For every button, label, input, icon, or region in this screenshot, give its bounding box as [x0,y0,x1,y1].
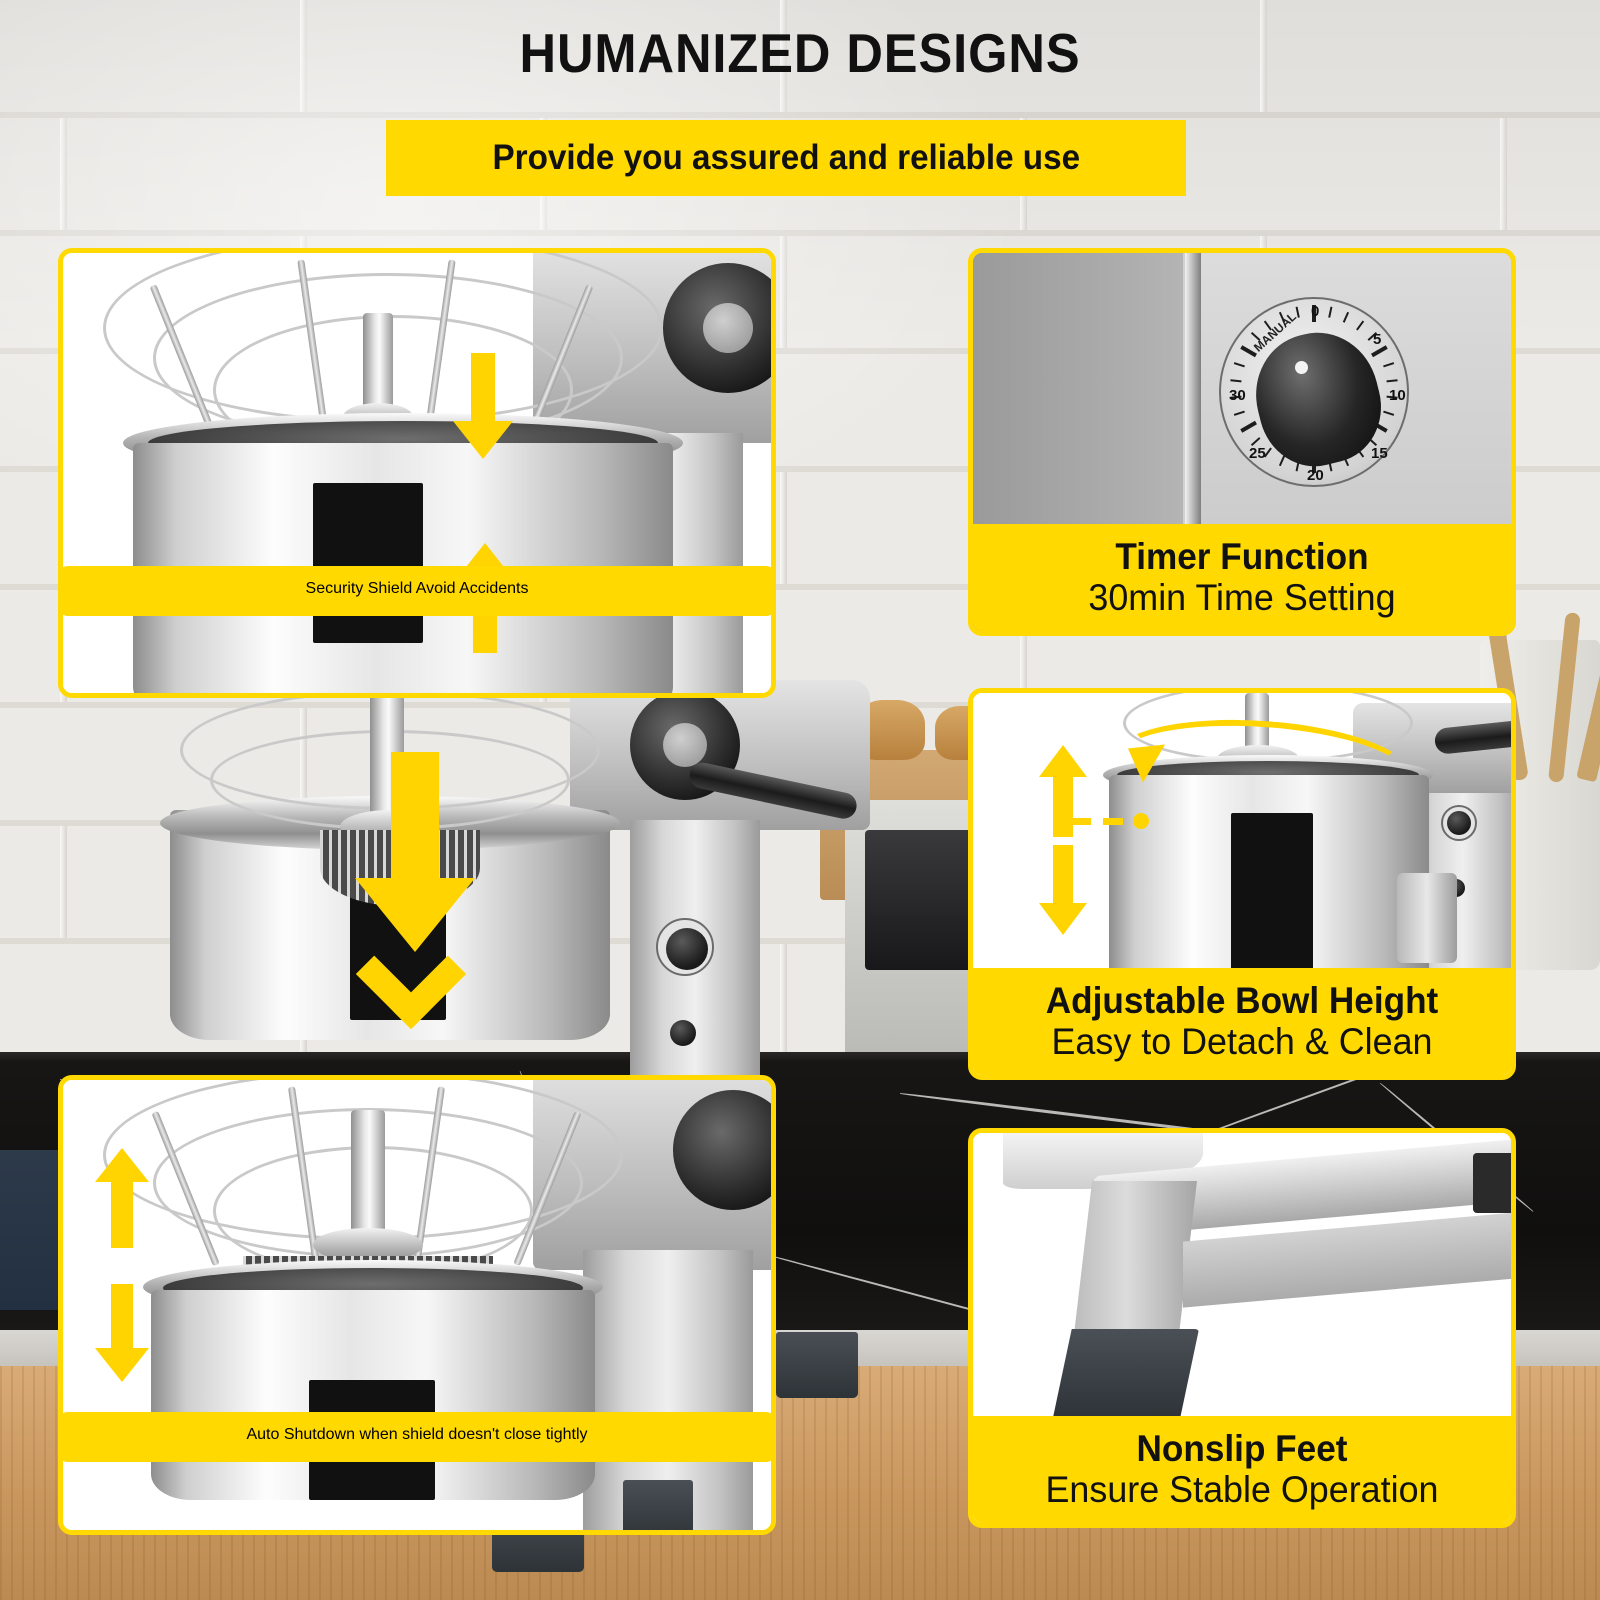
caption-adjustable-bowl-height: Adjustable Bowl Height Easy to Detach & … [968,968,1516,1080]
timer-knob-indicator [1295,361,1308,374]
caption-line1: Auto Shutdown [246,1426,355,1443]
timer-tick-15: 15 [1371,445,1388,462]
timer-tick-30: 30 [1229,387,1246,404]
caption-line1: Nonslip Feet [991,1428,1493,1469]
caption-security-shield: Security Shield Avoid Accidents [58,566,776,616]
shield-open-down-arrow [95,1284,149,1384]
panel-security-shield[interactable] [58,248,776,698]
panel-adjustable-bowl-height[interactable]: Adjustable Bowl Height Easy to Detach & … [968,688,1516,1080]
timer-tick-20: 20 [1307,467,1324,484]
security-shield-photo [63,253,771,693]
timer-tick-10: 10 [1389,387,1406,404]
subtitle-text: Provide you assured and reliable use [492,138,1080,178]
caption-line2: when shield doesn't close tightly [359,1426,587,1443]
bowl-height-dashed-pointer [1071,818,1137,825]
caption-line2: 30min Time Setting [986,577,1498,620]
caption-timer-function: Timer Function 30min Time Setting [968,524,1516,636]
caption-line1: Security Shield [306,580,413,597]
auto-shutdown-photo [63,1080,771,1530]
caption-line1: Adjustable Bowl Height [991,980,1493,1021]
panel-timer-function[interactable]: MANUAL 0 5 10 15 20 25 30 Timer Function… [968,248,1516,636]
timer-tick-0: 0 [1311,303,1319,320]
caption-line2: Avoid Accidents [416,580,529,597]
timer-tick-25: 25 [1249,445,1266,462]
nonslip-rubber-foot [1051,1329,1199,1427]
mixer-foot-right [776,1332,858,1398]
bowl-height-down-arrow [1039,845,1087,937]
page-title: HUMANIZED DESIGNS [64,26,1536,81]
bowl-rotation-arrow-head [1119,741,1163,771]
caption-nonslip-feet: Nonslip Feet Ensure Stable Operation [968,1416,1516,1528]
caption-line1: Timer Function [991,536,1493,577]
shield-close-down-arrow [453,353,513,463]
bowl-height-pointer-dot [1133,813,1149,829]
timer-tick-5: 5 [1373,331,1381,348]
shield-open-up-arrow [95,1148,149,1248]
caption-line2: Easy to Detach & Clean [986,1021,1498,1064]
caption-line2: Ensure Stable Operation [986,1469,1498,1512]
subtitle-banner: Provide you assured and reliable use [386,120,1186,196]
panel-nonslip-feet[interactable]: Nonslip Feet Ensure Stable Operation [968,1128,1516,1528]
caption-auto-shutdown: Auto Shutdown when shield doesn't close … [58,1412,776,1462]
panel-auto-shutdown[interactable] [58,1075,776,1535]
timer-dial-plate: MANUAL 0 5 10 15 20 25 30 [1219,297,1409,487]
